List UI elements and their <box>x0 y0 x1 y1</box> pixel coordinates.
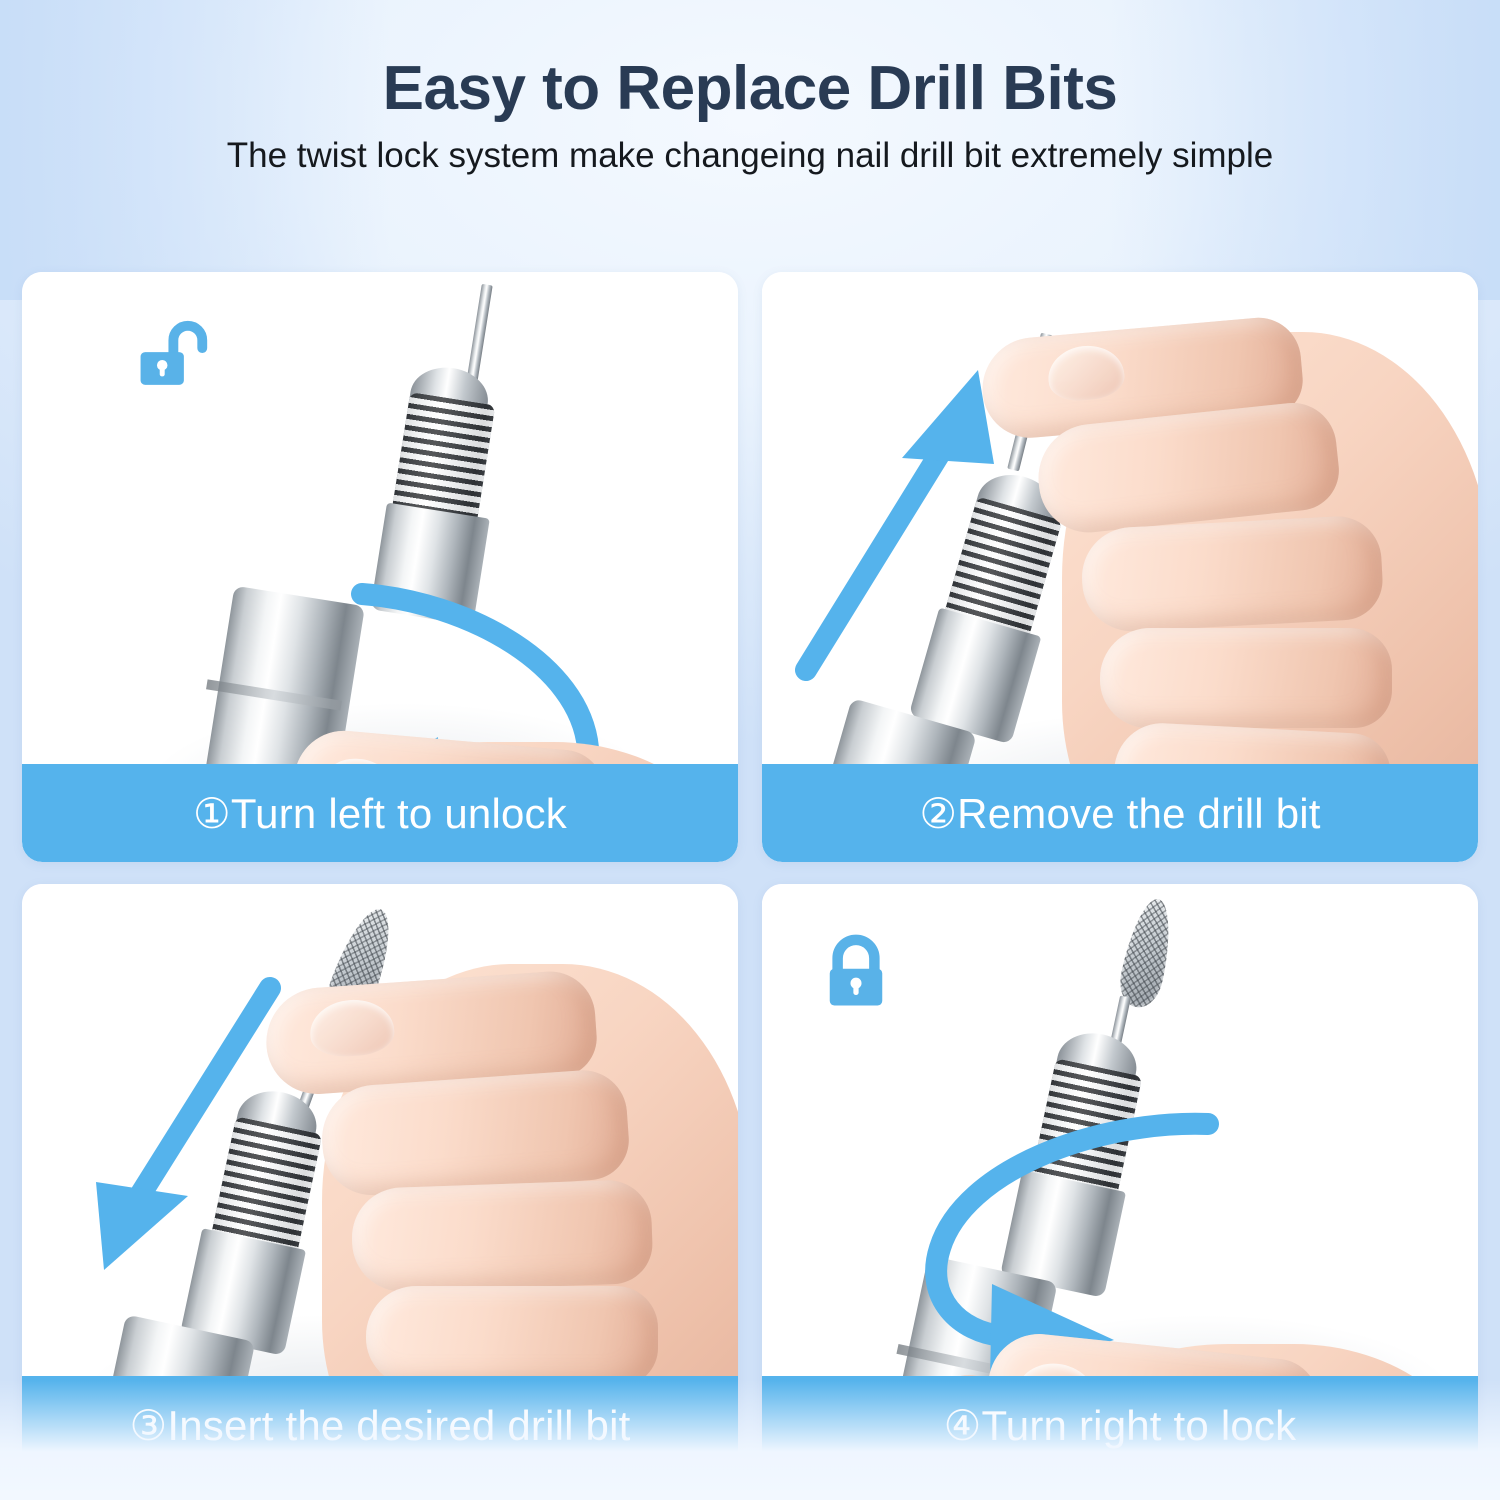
page-title: Easy to Replace Drill Bits <box>0 56 1500 121</box>
step-4-caption: ④Turn right to lock <box>762 1376 1478 1474</box>
flame-drill-bit-head <box>1115 895 1179 1011</box>
middle-finger <box>1079 514 1384 634</box>
middle-finger <box>350 1179 653 1293</box>
step-1-caption: ①Turn left to unlock <box>22 764 738 862</box>
insert-down-arrow <box>52 964 312 1294</box>
step-3-caption: ③Insert the desired drill bit <box>22 1376 738 1474</box>
step-2-illustration <box>762 272 1478 764</box>
step-4-artwork <box>762 884 1478 1376</box>
ring-finger <box>1100 628 1392 728</box>
step-panel-3[interactable]: ③Insert the desired drill bit <box>22 884 738 1474</box>
step-4-illustration <box>762 884 1478 1376</box>
step-1-artwork <box>22 272 738 764</box>
step-3-illustration <box>22 884 738 1376</box>
step-panel-2[interactable]: ②Remove the drill bit <box>762 272 1478 862</box>
step-1-illustration <box>22 272 738 764</box>
infographic-page: Easy to Replace Drill Bits The twist loc… <box>0 0 1500 1500</box>
counterclockwise-rotation-arrow <box>258 572 638 764</box>
step-2-artwork <box>762 272 1478 764</box>
clockwise-rotation-arrow <box>882 1098 1282 1358</box>
header: Easy to Replace Drill Bits The twist loc… <box>0 0 1500 177</box>
step-panel-1[interactable]: ①Turn left to unlock <box>22 272 738 862</box>
step-2-caption: ②Remove the drill bit <box>762 764 1478 862</box>
step-3-artwork <box>22 884 738 1376</box>
ring-finger <box>366 1286 658 1376</box>
step-panel-4[interactable]: ④Turn right to lock <box>762 884 1478 1474</box>
page-subtitle: The twist lock system make changeing nai… <box>0 135 1500 177</box>
thumb <box>319 1067 632 1198</box>
steps-grid: ①Turn left to unlock <box>22 272 1478 1472</box>
